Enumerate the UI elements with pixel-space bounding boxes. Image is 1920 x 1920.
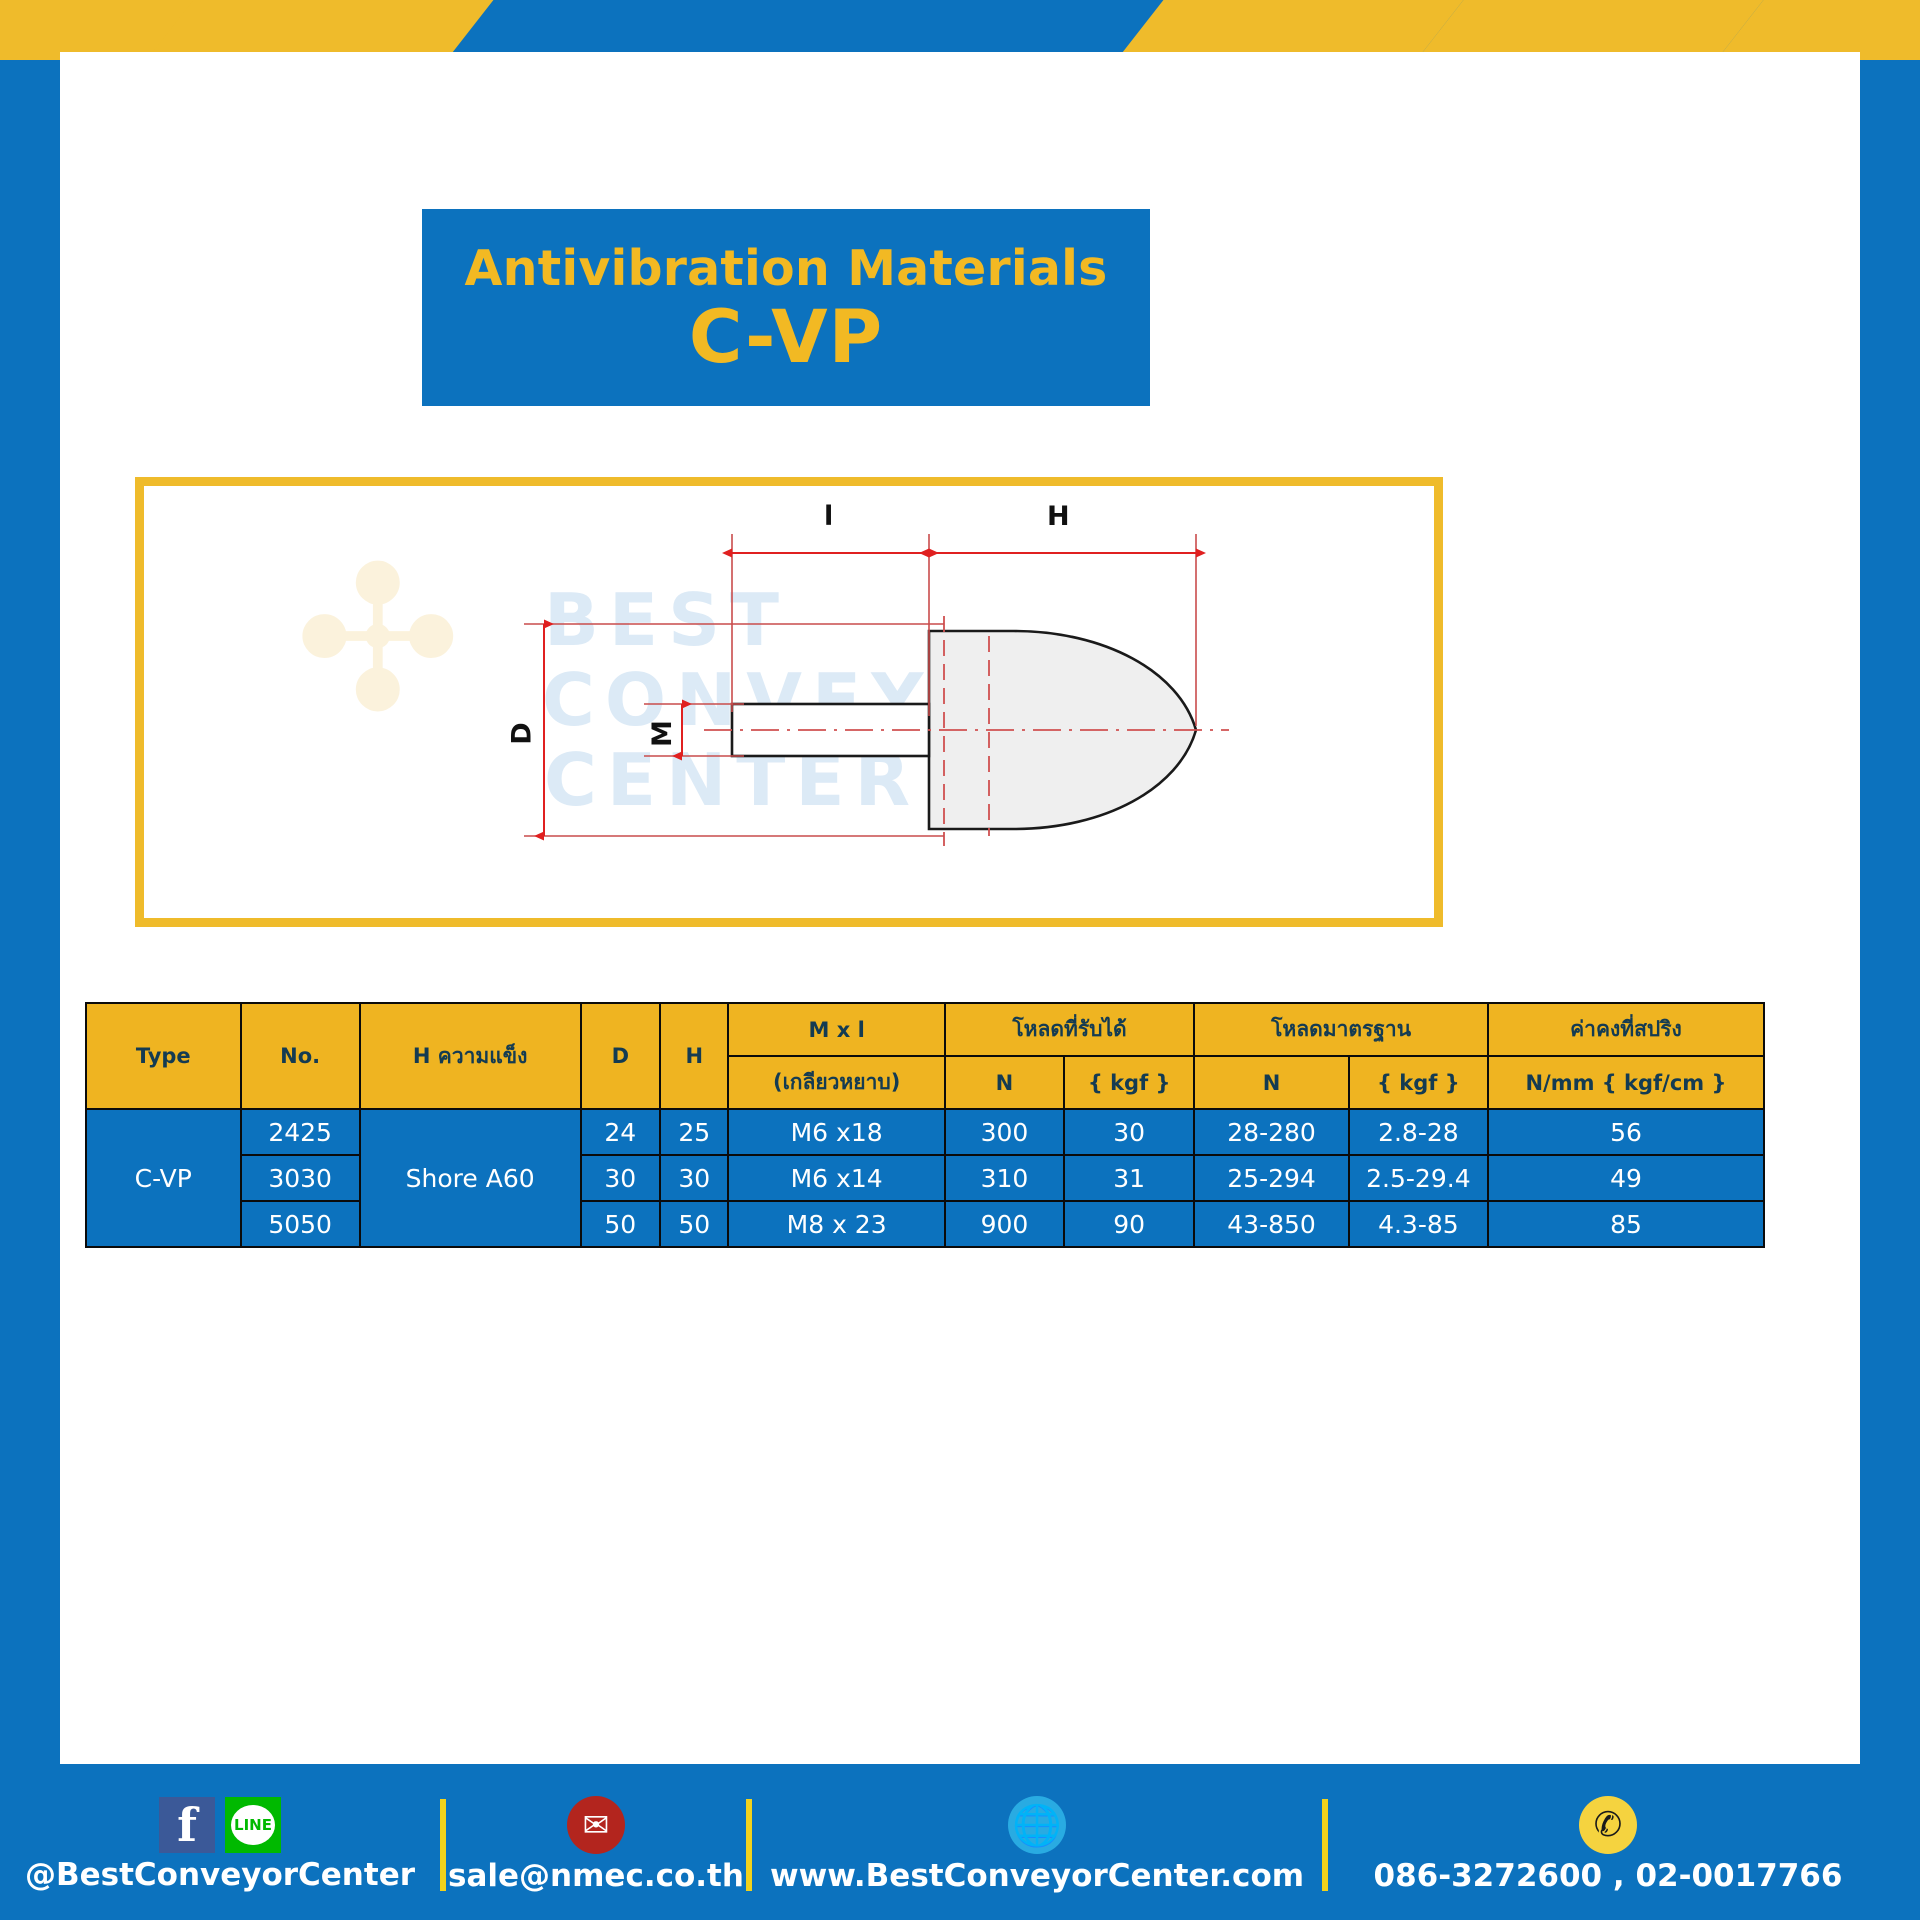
stripe-2 — [136, 0, 505, 60]
cell-spring: 56 — [1488, 1109, 1764, 1155]
cell-allowable-kgf: 90 — [1064, 1201, 1194, 1247]
cell-d: 24 — [581, 1109, 660, 1155]
table-row: 3030 30 30 M6 x14 310 31 25-294 2.5-29.4… — [86, 1155, 1764, 1201]
header-mxl-sub: (เกลียวหยาบ) — [728, 1056, 944, 1109]
phone-icon[interactable]: ✆ — [1579, 1796, 1637, 1854]
stripe-3 — [1106, 0, 1475, 60]
cell-hardness: Shore A60 — [360, 1109, 581, 1247]
header-h: H — [660, 1003, 728, 1109]
header-allowable-n: N — [945, 1056, 1064, 1109]
cell-type: C-VP — [86, 1109, 241, 1247]
header-spring-constant: ค่าคงที่สปริง — [1488, 1003, 1764, 1056]
cell-h: 25 — [660, 1109, 728, 1155]
cell-allowable-n: 300 — [945, 1109, 1064, 1155]
page-sheet: Antivibration Materials C-VP ✣ BEST CONV… — [60, 52, 1860, 1764]
cell-d: 50 — [581, 1201, 660, 1247]
header-d: D — [581, 1003, 660, 1109]
phone-text: 086-3272600 , 02-0017766 — [1374, 1858, 1843, 1894]
mail-icon[interactable]: ✉ — [567, 1796, 625, 1854]
page-title: Antivibration Materials — [465, 243, 1108, 294]
table-row: 5050 50 50 M8 x 23 900 90 43-850 4.3-85 … — [86, 1201, 1764, 1247]
footer-contact-bar: f LINE @BestConveyorCenter ✉ sale@nmec.c… — [0, 1770, 1920, 1920]
footer-website-group[interactable]: 🌐 www.BestConveyorCenter.com — [752, 1770, 1322, 1920]
cell-mxl: M6 x14 — [728, 1155, 944, 1201]
header-type: Type — [86, 1003, 241, 1109]
header-no: No. — [241, 1003, 360, 1109]
header-standard-kgf: { kgf } — [1349, 1056, 1488, 1109]
facebook-icon[interactable]: f — [159, 1797, 215, 1853]
social-handle-text: @BestConveyorCenter — [25, 1857, 415, 1893]
cell-allowable-n: 900 — [945, 1201, 1064, 1247]
header-allowable-load: โหลดที่รับได้ — [945, 1003, 1194, 1056]
cell-d: 30 — [581, 1155, 660, 1201]
header-mxl: M x l — [728, 1003, 944, 1056]
website-text: www.BestConveyorCenter.com — [770, 1858, 1304, 1894]
technical-drawing-panel: ✣ BEST CONVEYOR CENTER — [135, 477, 1443, 927]
specification-table: Type No. H ความแข็ง D H M x l โหลดที่รับ… — [85, 1002, 1765, 1248]
table-header-row-1: Type No. H ความแข็ง D H M x l โหลดที่รับ… — [86, 1003, 1764, 1056]
cell-mxl: M8 x 23 — [728, 1201, 944, 1247]
cell-h: 30 — [660, 1155, 728, 1201]
footer-phone-group[interactable]: ✆ 086-3272600 , 02-0017766 — [1328, 1770, 1888, 1920]
stripe-4 — [1406, 0, 1775, 60]
header-hardness: H ความแข็ง — [360, 1003, 581, 1109]
dimension-label-l: l — [824, 501, 833, 532]
top-decorative-band — [0, 0, 1920, 60]
cell-no: 2425 — [241, 1109, 360, 1155]
title-banner: Antivibration Materials C-VP — [422, 209, 1150, 406]
line-icon-label: LINE — [231, 1805, 275, 1845]
dimension-label-M: M — [647, 720, 678, 747]
product-cross-section-drawing — [144, 486, 1434, 918]
line-icon[interactable]: LINE — [225, 1797, 281, 1853]
footer-social-group[interactable]: f LINE @BestConveyorCenter — [0, 1770, 440, 1920]
cell-spring: 85 — [1488, 1201, 1764, 1247]
cell-allowable-kgf: 31 — [1064, 1155, 1194, 1201]
table-row: C-VP 2425 Shore A60 24 25 M6 x18 300 30 … — [86, 1109, 1764, 1155]
cell-standard-kgf: 2.5-29.4 — [1349, 1155, 1488, 1201]
header-allowable-kgf: { kgf } — [1064, 1056, 1194, 1109]
cell-spring: 49 — [1488, 1155, 1764, 1201]
header-spring-units: N/mm { kgf/cm } — [1488, 1056, 1764, 1109]
cell-standard-n: 43-850 — [1194, 1201, 1349, 1247]
globe-icon[interactable]: 🌐 — [1008, 1796, 1066, 1854]
cell-standard-kgf: 4.3-85 — [1349, 1201, 1488, 1247]
footer-email-group[interactable]: ✉ sale@nmec.co.th — [446, 1770, 746, 1920]
email-text: sale@nmec.co.th — [448, 1858, 744, 1894]
cell-allowable-kgf: 30 — [1064, 1109, 1194, 1155]
cell-h: 50 — [660, 1201, 728, 1247]
header-standard-load: โหลดมาตรฐาน — [1194, 1003, 1488, 1056]
cell-no: 3030 — [241, 1155, 360, 1201]
cell-standard-n: 25-294 — [1194, 1155, 1349, 1201]
cell-mxl: M6 x18 — [728, 1109, 944, 1155]
cell-allowable-n: 310 — [945, 1155, 1064, 1201]
cell-standard-kgf: 2.8-28 — [1349, 1109, 1488, 1155]
cell-standard-n: 28-280 — [1194, 1109, 1349, 1155]
product-code-title: C-VP — [689, 298, 883, 378]
dimension-label-H: H — [1047, 501, 1070, 532]
header-standard-n: N — [1194, 1056, 1349, 1109]
dimension-label-D: D — [507, 722, 538, 744]
cell-no: 5050 — [241, 1201, 360, 1247]
